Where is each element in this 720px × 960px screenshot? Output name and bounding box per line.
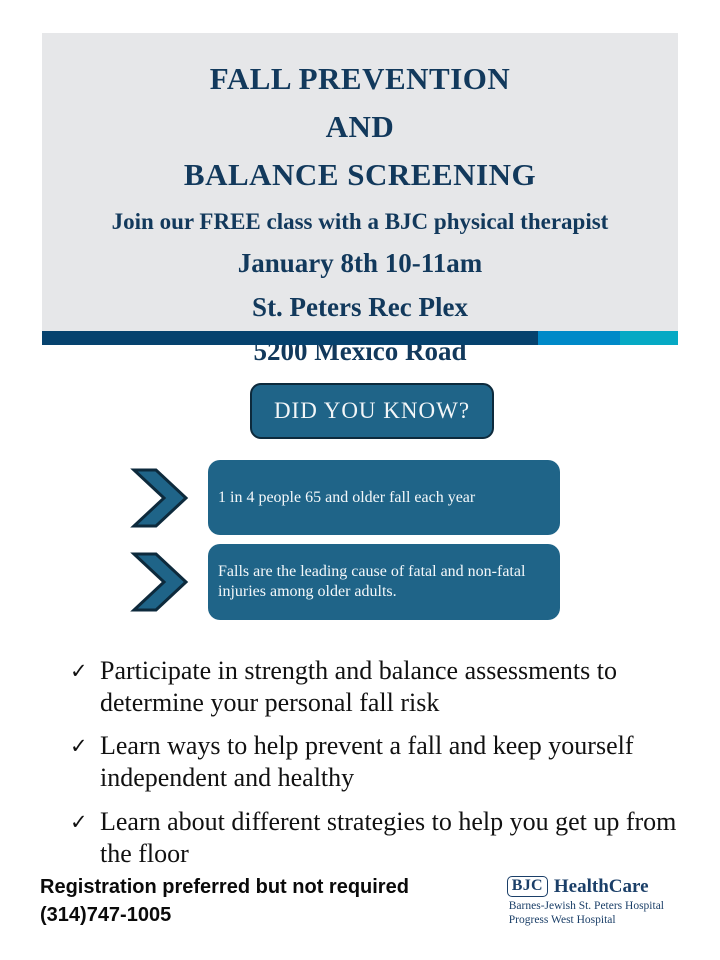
benefits-checklist: ✓ Participate in strength and balance as… — [70, 655, 690, 881]
list-item-label: Learn ways to help prevent a fall and ke… — [100, 730, 690, 793]
event-venue: St. Peters Rec Plex — [42, 294, 678, 321]
registration-phone[interactable]: (314)747-1005 — [40, 902, 409, 930]
list-item: ✓ Learn ways to help prevent a fall and … — [70, 730, 690, 793]
check-icon: ✓ — [70, 806, 100, 833]
page-title-line-3: BALANCE SCREENING — [42, 159, 678, 190]
event-datetime: January 8th 10-11am — [42, 250, 678, 277]
accent-rule-segment-blue — [538, 331, 620, 345]
accent-rule-segment-navy — [42, 331, 538, 345]
fact-box: Falls are the leading cause of fatal and… — [208, 544, 560, 620]
fact-row: 1 in 4 people 65 and older fall each yea… — [130, 460, 560, 535]
list-item: ✓ Participate in strength and balance as… — [70, 655, 690, 718]
chevron-right-icon — [130, 550, 192, 614]
list-item-label: Participate in strength and balance asse… — [100, 655, 690, 718]
page-title-line-2: AND — [42, 111, 678, 142]
page-title-line-1: FALL PREVENTION — [42, 63, 678, 94]
header-panel: FALL PREVENTION AND BALANCE SCREENING Jo… — [42, 33, 678, 331]
healthcare-wordmark: HealthCare — [554, 877, 649, 896]
check-icon: ✓ — [70, 655, 100, 682]
accent-rule-segment-teal — [620, 331, 678, 345]
list-item: ✓ Learn about different strategies to he… — [70, 806, 690, 869]
logo-wordmark: BJC HealthCare — [507, 876, 664, 897]
did-you-know-label: DID YOU KNOW? — [274, 398, 470, 424]
logo-subtitle-line-2: Progress West Hospital — [509, 913, 664, 927]
bjc-healthcare-logo: BJC HealthCare Barnes-Jewish St. Peters … — [507, 874, 680, 927]
fact-row: Falls are the leading cause of fatal and… — [130, 544, 560, 620]
chevron-right-icon — [130, 466, 192, 530]
registration-block: Registration preferred but not required … — [40, 874, 409, 929]
did-you-know-banner: DID YOU KNOW? — [250, 383, 494, 439]
fact-text: Falls are the leading cause of fatal and… — [218, 562, 550, 601]
bjc-mark: BJC — [507, 876, 548, 897]
accent-rule — [42, 331, 678, 345]
footer: Registration preferred but not required … — [40, 874, 680, 929]
header-subtitle: Join our FREE class with a BJC physical … — [42, 210, 678, 233]
check-icon: ✓ — [70, 730, 100, 757]
list-item-label: Learn about different strategies to help… — [100, 806, 690, 869]
registration-note: Registration preferred but not required — [40, 874, 409, 902]
fact-box: 1 in 4 people 65 and older fall each yea… — [208, 460, 560, 535]
logo-subtitle-line-1: Barnes-Jewish St. Peters Hospital — [509, 899, 664, 913]
fact-text: 1 in 4 people 65 and older fall each yea… — [218, 488, 475, 508]
